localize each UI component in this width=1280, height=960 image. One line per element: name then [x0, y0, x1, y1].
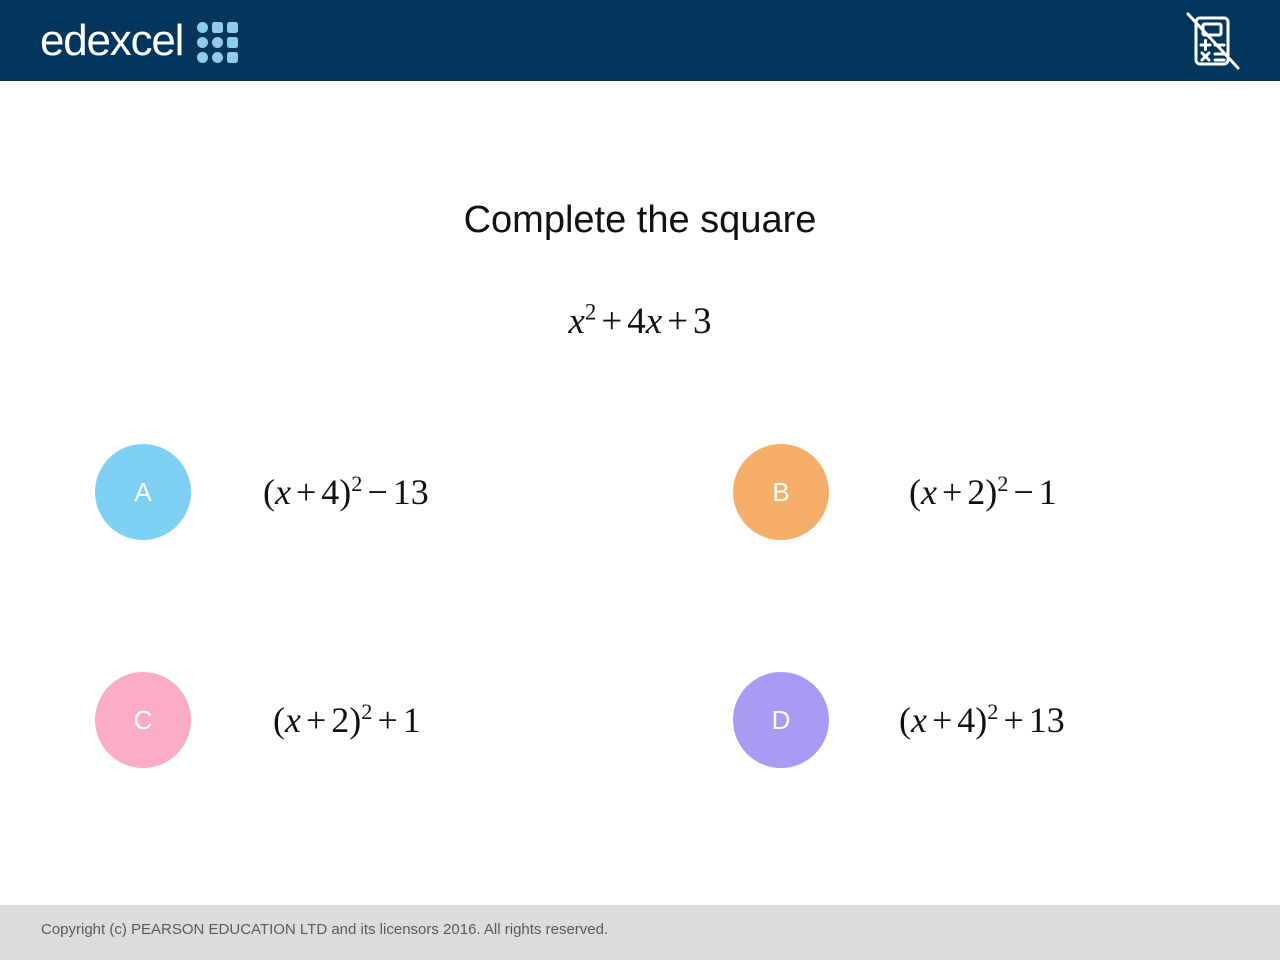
- option-d-variable: x: [911, 700, 927, 740]
- option-b[interactable]: B (x+2)2−1: [733, 444, 1057, 540]
- option-b-open-paren: (: [909, 472, 921, 512]
- option-a-close-paren: ): [339, 472, 351, 512]
- option-a-exponent: 2: [351, 471, 362, 496]
- option-b-badge[interactable]: B: [733, 444, 829, 540]
- option-d-outer-op: +: [998, 700, 1028, 740]
- option-a-badge[interactable]: A: [95, 444, 191, 540]
- option-c-close-paren: ): [349, 700, 361, 740]
- option-a-expression: (x+4)2−13: [263, 471, 429, 513]
- no-calculator-icon: [1182, 10, 1244, 72]
- option-a[interactable]: A (x+4)2−13: [95, 444, 429, 540]
- option-c-variable: x: [285, 700, 301, 740]
- option-a-open-paren: (: [263, 472, 275, 512]
- option-c-exponent: 2: [361, 699, 372, 724]
- footer-bar: Copyright (c) PEARSON EDUCATION LTD and …: [0, 905, 1280, 960]
- option-b-inner-value: 2: [967, 472, 985, 512]
- option-a-outer-op: −: [362, 472, 392, 512]
- option-b-outer-value: 1: [1039, 472, 1057, 512]
- option-c-inner-value: 2: [331, 700, 349, 740]
- edexcel-grid-icon: [197, 22, 238, 63]
- option-b-variable: x: [921, 472, 937, 512]
- option-c-inner-op: +: [301, 700, 331, 740]
- option-d-close-paren: ): [975, 700, 987, 740]
- option-d-inner-value: 4: [957, 700, 975, 740]
- option-b-outer-op: −: [1008, 472, 1038, 512]
- slide-content: Complete the square x2+4x+3 A (x+4)2−13 …: [0, 81, 1280, 905]
- brand-wordmark: edexcel: [40, 19, 183, 63]
- option-b-inner-op: +: [937, 472, 967, 512]
- option-d-outer-value: 13: [1029, 700, 1065, 740]
- edexcel-logo: edexcel: [40, 18, 238, 63]
- option-c-outer-value: 1: [403, 700, 421, 740]
- option-a-letter: A: [134, 477, 151, 508]
- option-b-close-paren: ): [985, 472, 997, 512]
- option-a-inner-op: +: [291, 472, 321, 512]
- option-d-badge[interactable]: D: [733, 672, 829, 768]
- option-a-inner-value: 4: [321, 472, 339, 512]
- option-b-exponent: 2: [997, 471, 1008, 496]
- option-c-open-paren: (: [273, 700, 285, 740]
- option-d-letter: D: [772, 705, 791, 736]
- option-d-expression: (x+4)2+13: [899, 699, 1065, 741]
- option-a-variable: x: [275, 472, 291, 512]
- app-header: edexcel: [0, 0, 1280, 81]
- option-c-badge[interactable]: C: [95, 672, 191, 768]
- answer-options: A (x+4)2−13 B (x+2)2−1 C (x+2)2+1: [0, 81, 1280, 905]
- copyright-text: Copyright (c) PEARSON EDUCATION LTD and …: [41, 921, 608, 938]
- option-d[interactable]: D (x+4)2+13: [733, 672, 1065, 768]
- option-a-outer-value: 13: [393, 472, 429, 512]
- option-b-letter: B: [772, 477, 789, 508]
- option-c-letter: C: [134, 705, 153, 736]
- option-c[interactable]: C (x+2)2+1: [95, 672, 421, 768]
- option-c-expression: (x+2)2+1: [273, 699, 421, 741]
- option-d-inner-op: +: [927, 700, 957, 740]
- option-d-exponent: 2: [987, 699, 998, 724]
- option-b-expression: (x+2)2−1: [909, 471, 1057, 513]
- option-d-open-paren: (: [899, 700, 911, 740]
- option-c-outer-op: +: [372, 700, 402, 740]
